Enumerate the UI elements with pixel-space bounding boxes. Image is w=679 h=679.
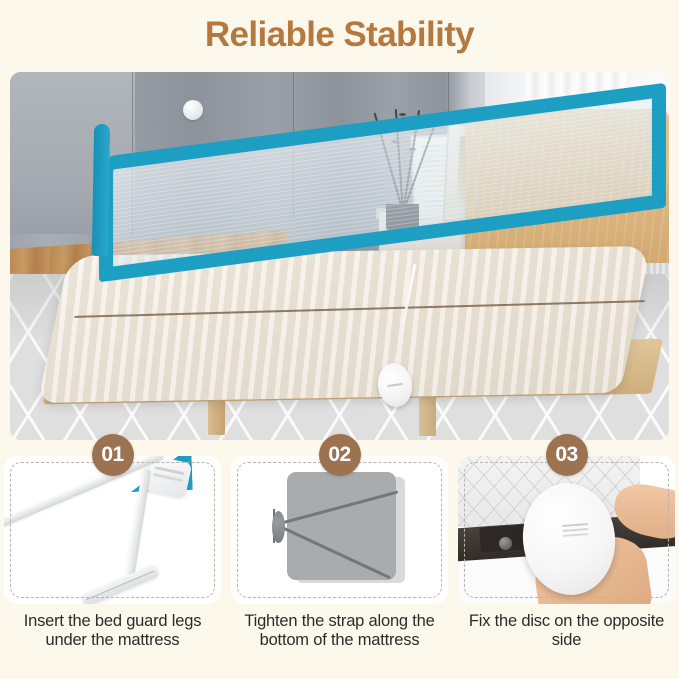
step-01: 01 Insert the bed guard legs under the m… xyxy=(4,452,221,679)
guard-leg-vertical-bar xyxy=(126,468,152,575)
step-card-01 xyxy=(4,456,221,604)
wardrobe-knob-icon xyxy=(183,100,203,120)
step-caption-01: Insert the bed guard legs under the matt… xyxy=(7,612,219,650)
step-03: 03 Fix the disc on the opposite side xyxy=(458,452,675,679)
step-caption-02: Tighten the strap along the bottom of th… xyxy=(234,612,446,650)
step-badge-03: 03 xyxy=(546,434,588,476)
step-card-03 xyxy=(458,456,675,604)
bed-guard-leg-illustration xyxy=(4,456,221,604)
step-badge-02: 02 xyxy=(319,434,361,476)
hero-scene xyxy=(10,72,669,440)
bed-guard-post xyxy=(92,123,110,256)
strap-disc-icon xyxy=(272,511,285,543)
mattress-block xyxy=(287,472,396,580)
mattress-strap-diagram xyxy=(231,456,448,604)
step-card-02 xyxy=(231,456,448,604)
step-badge-01: 01 xyxy=(92,434,134,476)
hero-product-photo xyxy=(10,72,669,440)
hand-holding-disc-photo xyxy=(458,456,675,604)
step-caption-03: Fix the disc on the opposite side xyxy=(461,612,673,650)
bed-leg-3 xyxy=(419,396,436,436)
header: Reliable Stability xyxy=(0,0,679,70)
page-title: Reliable Stability xyxy=(205,15,474,55)
step-02: 02 Tighten the strap along the bottom of… xyxy=(231,452,448,679)
steps-row: 01 Insert the bed guard legs under the m… xyxy=(0,452,679,679)
guard-leg-foot xyxy=(81,564,160,604)
